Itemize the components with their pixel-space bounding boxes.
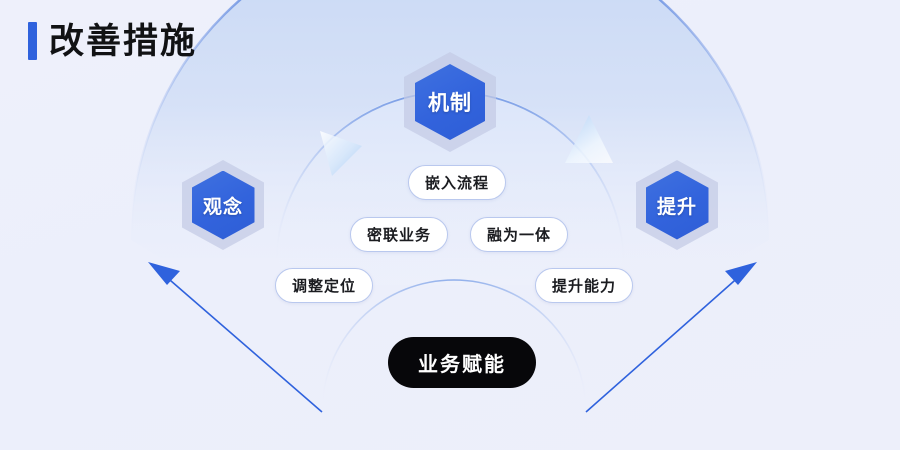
- title-accent-bar: [28, 22, 37, 60]
- node-concept-label: 观念: [182, 160, 264, 250]
- title-text: 改善措施: [49, 24, 197, 59]
- pill-close-business-link[interactable]: 密联业务: [350, 217, 448, 252]
- node-concept[interactable]: 观念: [182, 160, 264, 250]
- node-improve-label: 提升: [636, 160, 718, 250]
- focus-business-empowerment[interactable]: 业务赋能: [388, 337, 536, 388]
- pill-adjust-positioning[interactable]: 调整定位: [275, 268, 373, 303]
- node-improve[interactable]: 提升: [636, 160, 718, 250]
- node-mechanism[interactable]: 机制: [404, 52, 496, 152]
- diagram-canvas: 改善措施 机制 观念 提升 嵌入流程 密联业务 融为一体 调整定位 提升能力 业…: [0, 0, 900, 450]
- pill-enhance-capability[interactable]: 提升能力: [535, 268, 633, 303]
- page-title: 改善措施: [28, 22, 197, 60]
- pill-integrate-as-one[interactable]: 融为一体: [470, 217, 568, 252]
- pill-embed-process[interactable]: 嵌入流程: [408, 165, 506, 200]
- node-mechanism-label: 机制: [404, 52, 496, 152]
